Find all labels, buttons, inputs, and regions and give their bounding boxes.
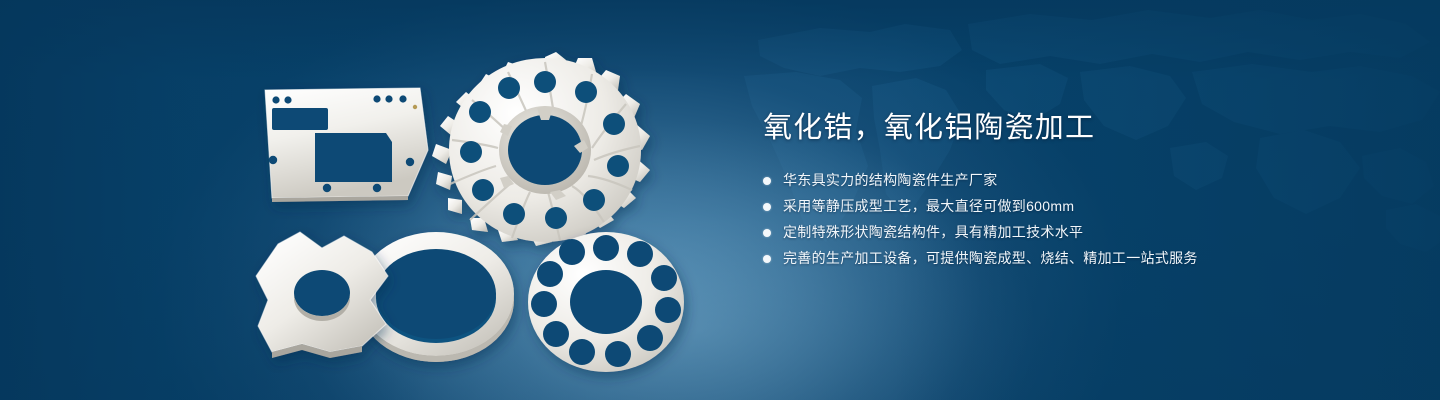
feature-text: 定制特殊形状陶瓷结构件，具有精加工技术水平: [783, 222, 1083, 243]
bullet-dot-icon: [763, 203, 771, 211]
list-item: 定制特殊形状陶瓷结构件，具有精加工技术水平: [763, 222, 1383, 243]
banner-copy: 氧化锆，氧化铝陶瓷加工 华东具实力的结构陶瓷件生产厂家 采用等静压成型工艺，最大…: [763, 108, 1383, 274]
list-item: 采用等静压成型工艺，最大直径可做到600mm: [763, 196, 1383, 217]
banner-headline: 氧化锆，氧化铝陶瓷加工: [763, 108, 1383, 148]
ceramic-products-image: [0, 0, 760, 400]
ceramic-cross-part: [256, 232, 388, 358]
list-item: 华东具实力的结构陶瓷件生产厂家: [763, 170, 1383, 191]
feature-text: 华东具实力的结构陶瓷件生产厂家: [783, 170, 998, 191]
hero-banner: 氧化锆，氧化铝陶瓷加工 华东具实力的结构陶瓷件生产厂家 采用等静压成型工艺，最大…: [0, 0, 1440, 400]
bullet-dot-icon: [763, 177, 771, 185]
ceramic-plate-part: [265, 88, 428, 202]
feature-text: 完善的生产加工设备，可提供陶瓷成型、烧结、精加工一站式服务: [783, 248, 1198, 269]
bullet-dot-icon: [763, 229, 771, 237]
feature-text: 采用等静压成型工艺，最大直径可做到600mm: [783, 196, 1074, 217]
ceramic-ring-part: [358, 232, 514, 362]
ceramic-impeller-part: [432, 52, 650, 246]
list-item: 完善的生产加工设备，可提供陶瓷成型、烧结、精加工一站式服务: [763, 248, 1383, 269]
ceramic-perforated-disc-part: [528, 232, 684, 372]
feature-list: 华东具实力的结构陶瓷件生产厂家 采用等静压成型工艺，最大直径可做到600mm 定…: [763, 170, 1383, 269]
bullet-dot-icon: [763, 255, 771, 263]
